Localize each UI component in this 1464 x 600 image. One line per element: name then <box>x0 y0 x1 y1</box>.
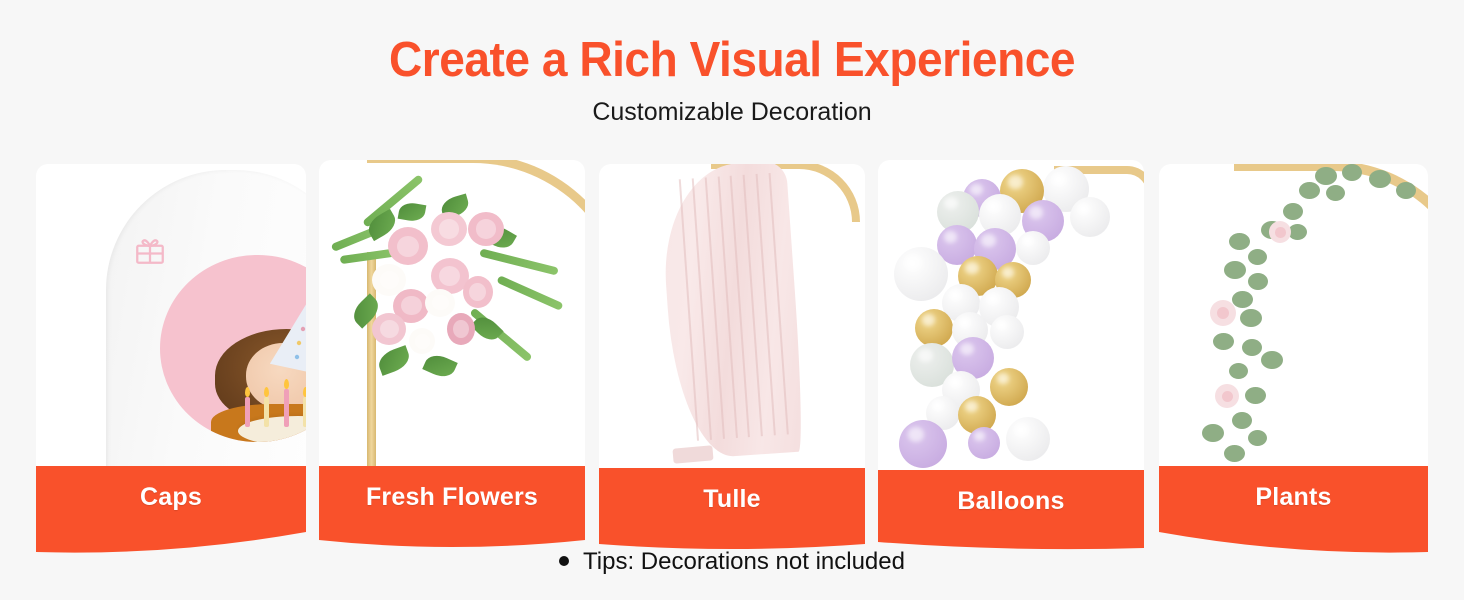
tulle-drape <box>658 164 806 460</box>
promo-banner: Create a Rich Visual Experience Customiz… <box>0 0 1464 600</box>
hat-dots <box>273 303 306 369</box>
balloons-photo <box>878 160 1144 470</box>
plants-photo <box>1159 164 1428 466</box>
tips-note: Tips: Decorations not included <box>0 548 1464 576</box>
caps-photo <box>36 164 306 466</box>
card-label-plants[interactable]: Plants <box>1159 466 1428 528</box>
feature-card-strip: Caps <box>0 0 1464 600</box>
card-label-text: Caps <box>140 483 202 512</box>
card-label-fresh-flowers[interactable]: Fresh Flowers <box>319 466 585 528</box>
fresh-flowers-photo <box>319 160 585 466</box>
bullet-icon <box>559 556 569 566</box>
tulle-tie <box>673 445 714 464</box>
card-label-balloons[interactable]: Balloons <box>878 470 1144 532</box>
cake-candles <box>238 393 306 427</box>
vine-rose <box>1210 300 1236 326</box>
tips-text: Tips: Decorations not included <box>583 548 905 575</box>
tulle-photo <box>599 164 865 468</box>
feature-card-fresh-flowers[interactable]: Fresh Flowers <box>319 160 585 466</box>
card-label-text: Tulle <box>703 485 760 514</box>
card-label-tulle[interactable]: Tulle <box>599 468 865 530</box>
gift-icon <box>133 233 167 267</box>
feature-card-caps[interactable]: Caps <box>36 164 306 466</box>
card-label-text: Plants <box>1255 483 1331 512</box>
feature-card-plants[interactable]: Plants <box>1159 164 1428 466</box>
feature-card-tulle[interactable]: Tulle <box>599 164 865 468</box>
gold-arch <box>1234 164 1428 466</box>
card-label-caps[interactable]: Caps <box>36 466 306 528</box>
feature-card-balloons[interactable]: Balloons <box>878 160 1144 470</box>
card-label-text: Fresh Flowers <box>366 483 538 512</box>
card-label-text: Balloons <box>957 487 1064 516</box>
